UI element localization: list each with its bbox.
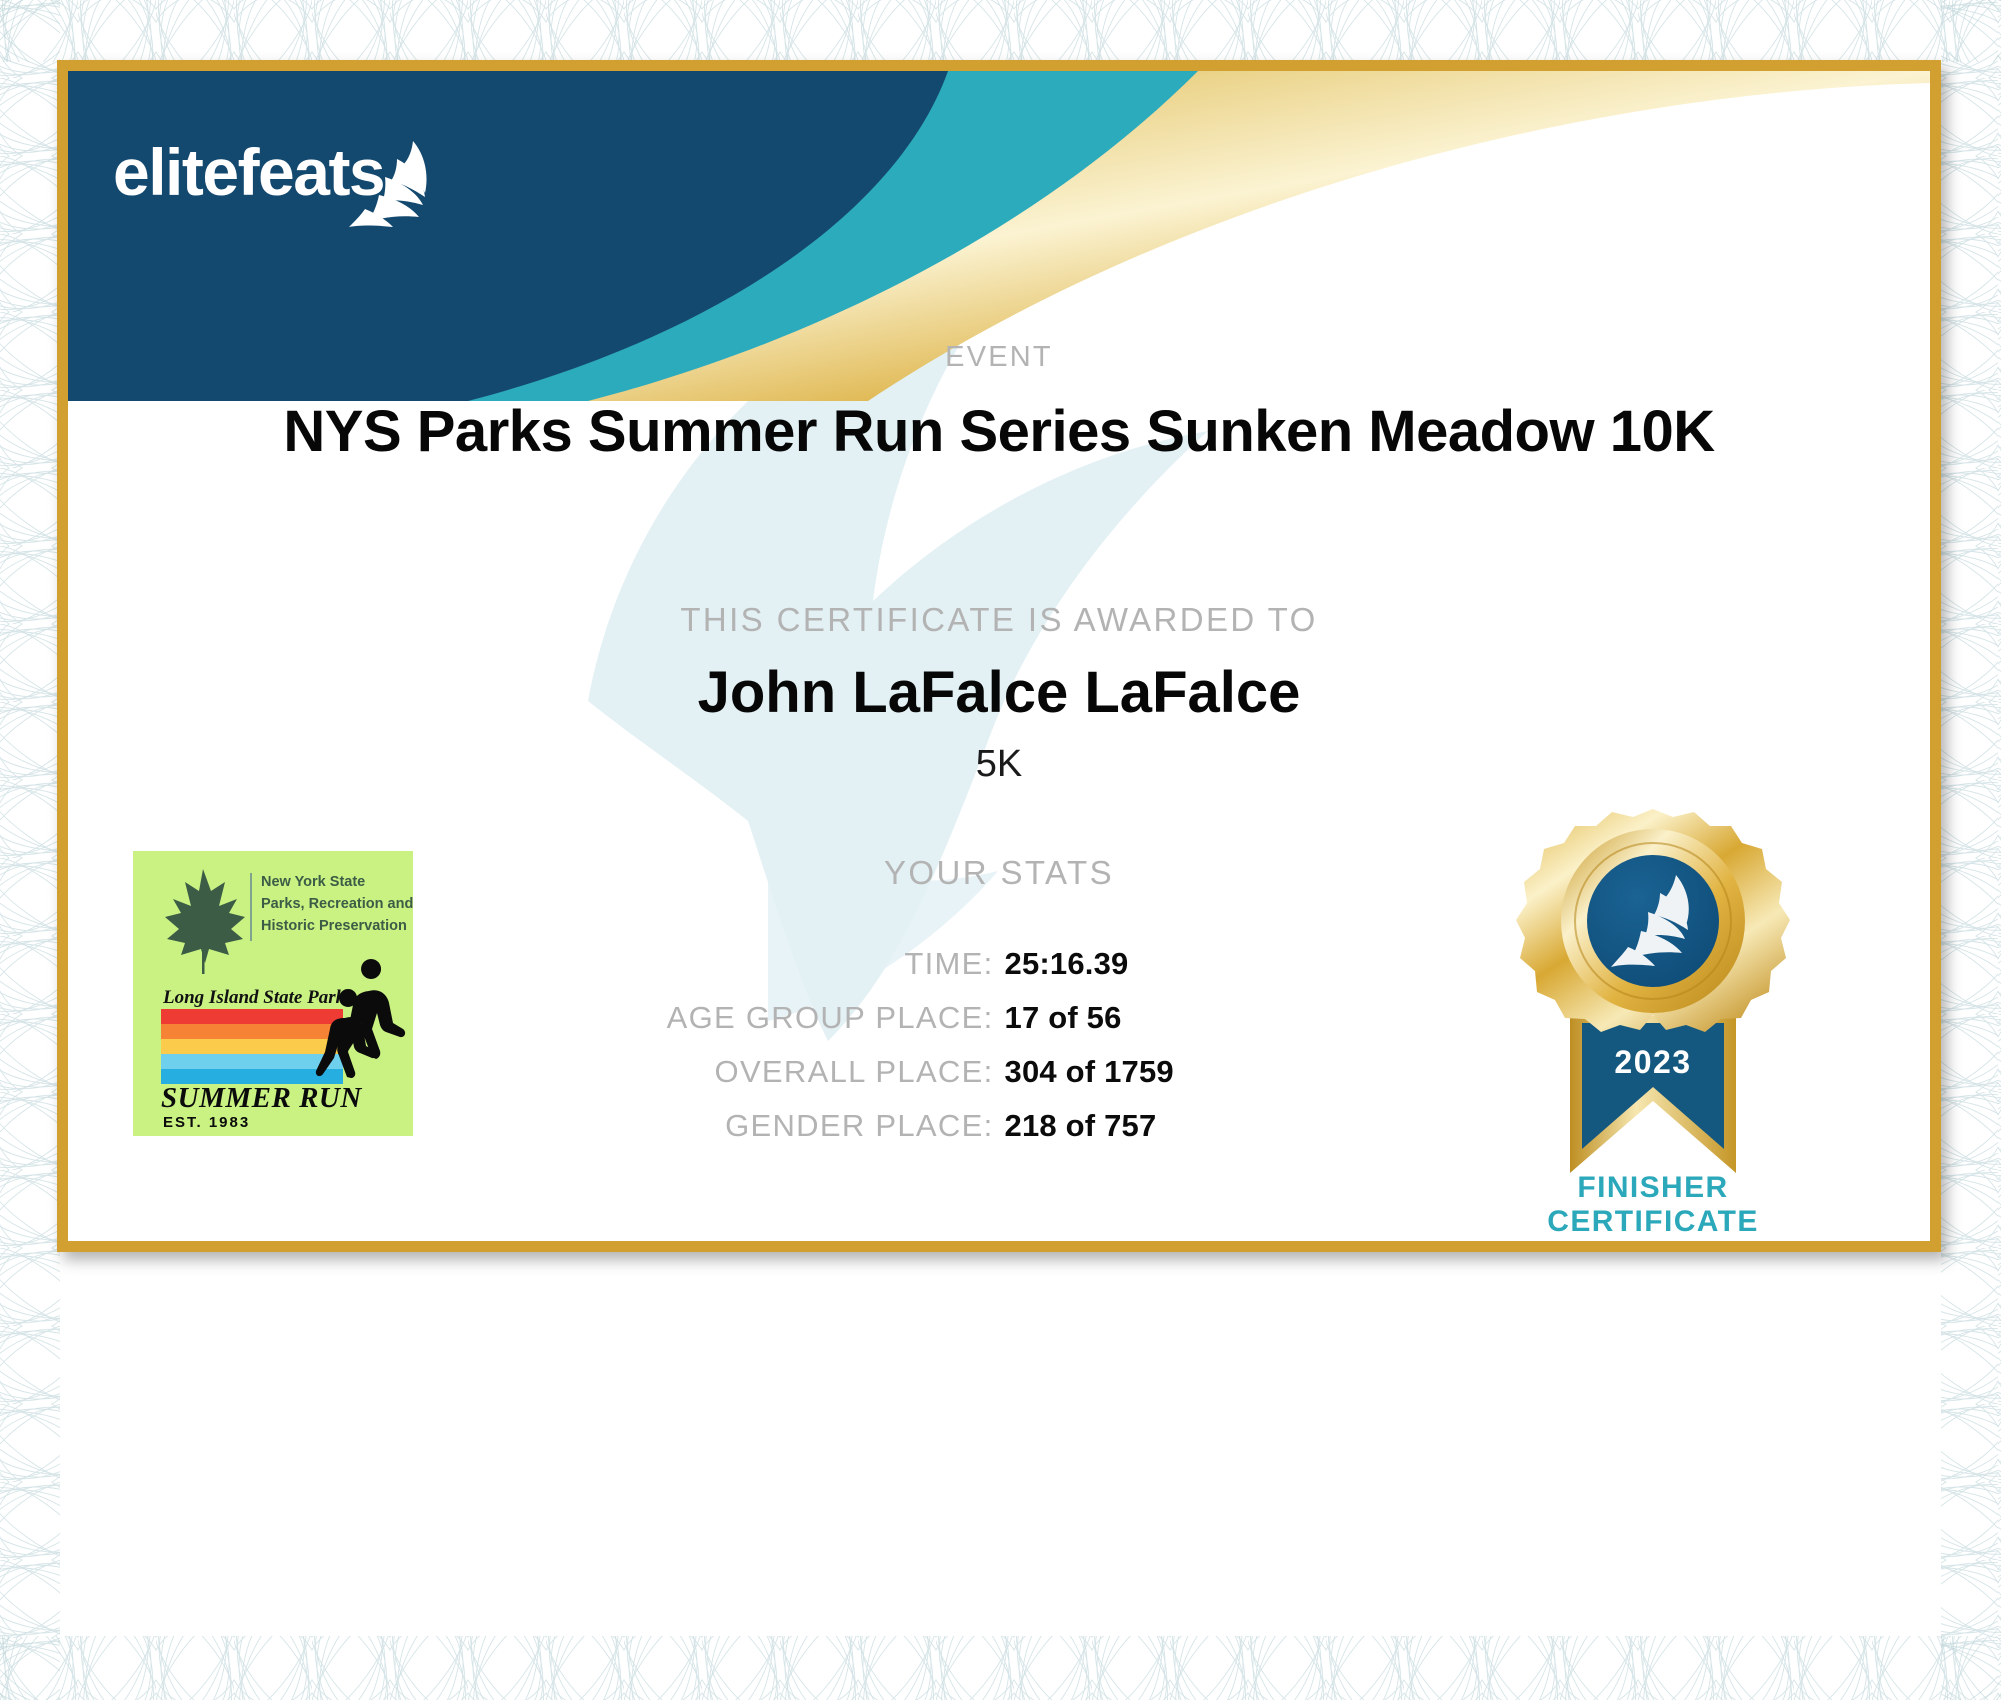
awarded-to-label: THIS CERTIFICATE IS AWARDED TO: [68, 601, 1930, 639]
race-distance: 5K: [68, 743, 1930, 786]
stat-label: GENDER PLACE:: [394, 1108, 1005, 1144]
finisher-caption-line2: CERTIFICATE: [1498, 1205, 1808, 1239]
certificate-frame: elitefeats EVENT NYS Parks Summer Run Se…: [57, 60, 1941, 1252]
event-title: NYS Parks Summer Run Series Sunken Meado…: [68, 398, 1930, 465]
sponsor-logo: New York State Parks, Recreation and His…: [133, 851, 413, 1136]
agency-line-1: New York State: [261, 874, 365, 890]
event-name: SUMMER RUN: [161, 1082, 362, 1114]
long-island-state-parks-summer-run-logo: New York State Parks, Recreation and His…: [133, 851, 413, 1136]
established-year: EST. 1983: [163, 1114, 250, 1131]
medal-year: 2023: [1614, 1044, 1691, 1080]
stat-label: TIME:: [394, 946, 1005, 982]
recipient-name: John LaFalce LaFalce: [68, 659, 1930, 726]
maple-leaf-icon: [165, 869, 245, 974]
stat-label: AGE GROUP PLACE:: [394, 1000, 1005, 1036]
rainbow-stripes: [161, 1009, 343, 1084]
finisher-medal-badge: 2023: [1498, 801, 1808, 1201]
certificate-page: elitefeats EVENT NYS Parks Summer Run Se…: [0, 0, 2001, 1700]
agency-line-3: Historic Preservation: [261, 918, 407, 934]
finisher-caption-line1: FINISHER: [1498, 1171, 1808, 1205]
event-label: EVENT: [68, 341, 1930, 374]
certificate-body: elitefeats EVENT NYS Parks Summer Run Se…: [68, 71, 1930, 1241]
elitefeats-logo: elitefeats: [113, 123, 473, 233]
medal-ribbon: [1570, 1016, 1736, 1173]
agency-line-2: Parks, Recreation and: [261, 896, 413, 912]
finisher-caption: FINISHER CERTIFICATE: [1498, 1171, 1808, 1238]
stat-label: OVERALL PLACE:: [394, 1054, 1005, 1090]
svg-text:elitefeats: elitefeats: [113, 135, 384, 209]
series-title: Long Island State Parks: [162, 987, 353, 1008]
